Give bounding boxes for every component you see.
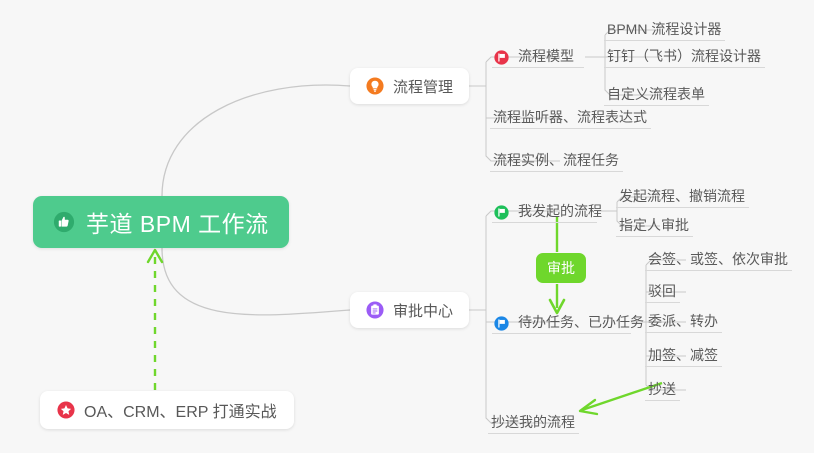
node-start-cancel-process-label: 发起流程、撤销流程 <box>619 189 745 205</box>
branch-process-management-label: 流程管理 <box>393 76 453 97</box>
connector-root-to-process-management <box>162 85 350 196</box>
node-my-initiated-process-label: 我发起的流程 <box>518 204 602 220</box>
node-carbon-copy-label: 抄送 <box>648 382 676 398</box>
node-process-instance-task-label: 流程实例、流程任务 <box>493 153 619 169</box>
node-carbon-copy[interactable]: 抄送 <box>645 374 680 401</box>
approval-badge[interactable]: 审批 <box>536 253 586 283</box>
connector-root-to-approval-center <box>162 248 350 315</box>
node-my-initiated-process[interactable]: 我发起的流程 <box>492 196 597 223</box>
node-delegate-transfer[interactable]: 委派、转办 <box>645 306 722 333</box>
clipboard-icon <box>366 301 384 319</box>
approval-badge-label: 审批 <box>547 258 575 278</box>
integration-card-label: OA、CRM、ERP 打通实战 <box>84 398 277 422</box>
dashed-up-arrow <box>148 250 162 390</box>
branch-approval-center-label: 审批中心 <box>393 300 453 321</box>
flag-icon <box>494 205 509 220</box>
branch-process-management[interactable]: 流程管理 <box>350 68 469 104</box>
node-todo-done-task[interactable]: 待办任务、已办任务 <box>492 307 631 334</box>
node-process-listener-expression[interactable]: 流程监听器、流程表达式 <box>490 102 651 129</box>
node-add-remove-sign-label: 加签、减签 <box>648 348 718 364</box>
node-process-model-label: 流程模型 <box>518 49 574 65</box>
node-process-model[interactable]: 流程模型 <box>492 41 584 68</box>
node-delegate-transfer-label: 委派、转办 <box>648 314 718 330</box>
node-add-remove-sign[interactable]: 加签、减签 <box>645 340 722 367</box>
node-countersign-orsign-sequential-label: 会签、或签、依次审批 <box>648 252 788 268</box>
node-countersign-orsign-sequential[interactable]: 会签、或签、依次审批 <box>645 244 792 271</box>
node-reject[interactable]: 驳回 <box>645 276 680 303</box>
lightbulb-icon <box>366 77 384 95</box>
node-dingtalk-feishu-designer[interactable]: 钉钉（飞书）流程设计器 <box>604 41 765 68</box>
flag-icon <box>494 316 509 331</box>
root-node[interactable]: 芋道 BPM 工作流 <box>33 196 289 248</box>
node-process-listener-expression-label: 流程监听器、流程表达式 <box>493 110 647 126</box>
node-process-instance-task[interactable]: 流程实例、流程任务 <box>490 145 623 172</box>
star-icon <box>57 401 75 419</box>
node-dingtalk-feishu-designer-label: 钉钉（飞书）流程设计器 <box>607 49 761 65</box>
root-node-label: 芋道 BPM 工作流 <box>86 205 269 239</box>
node-assignee-approval-label: 指定人审批 <box>619 218 689 234</box>
node-bpmn-designer[interactable]: BPMN 流程设计器 <box>604 14 725 41</box>
node-cc-to-me-process[interactable]: 抄送我的流程 <box>488 407 579 434</box>
node-assignee-approval[interactable]: 指定人审批 <box>616 210 693 237</box>
mindmap-canvas: 芋道 BPM 工作流 流程管理 流程模型 BPMN 流程设计器 钉钉（飞书 <box>0 0 814 453</box>
thumbs-up-icon <box>53 211 75 233</box>
integration-card[interactable]: OA、CRM、ERP 打通实战 <box>40 391 294 429</box>
node-todo-done-task-label: 待办任务、已办任务 <box>518 315 644 331</box>
branch-approval-center[interactable]: 审批中心 <box>350 292 469 328</box>
node-reject-label: 驳回 <box>648 284 676 300</box>
flag-icon <box>494 50 509 65</box>
node-start-cancel-process[interactable]: 发起流程、撤销流程 <box>616 181 749 208</box>
node-bpmn-designer-label: BPMN 流程设计器 <box>607 22 721 38</box>
node-custom-process-form-label: 自定义流程表单 <box>607 87 705 103</box>
node-cc-to-me-process-label: 抄送我的流程 <box>491 415 575 431</box>
